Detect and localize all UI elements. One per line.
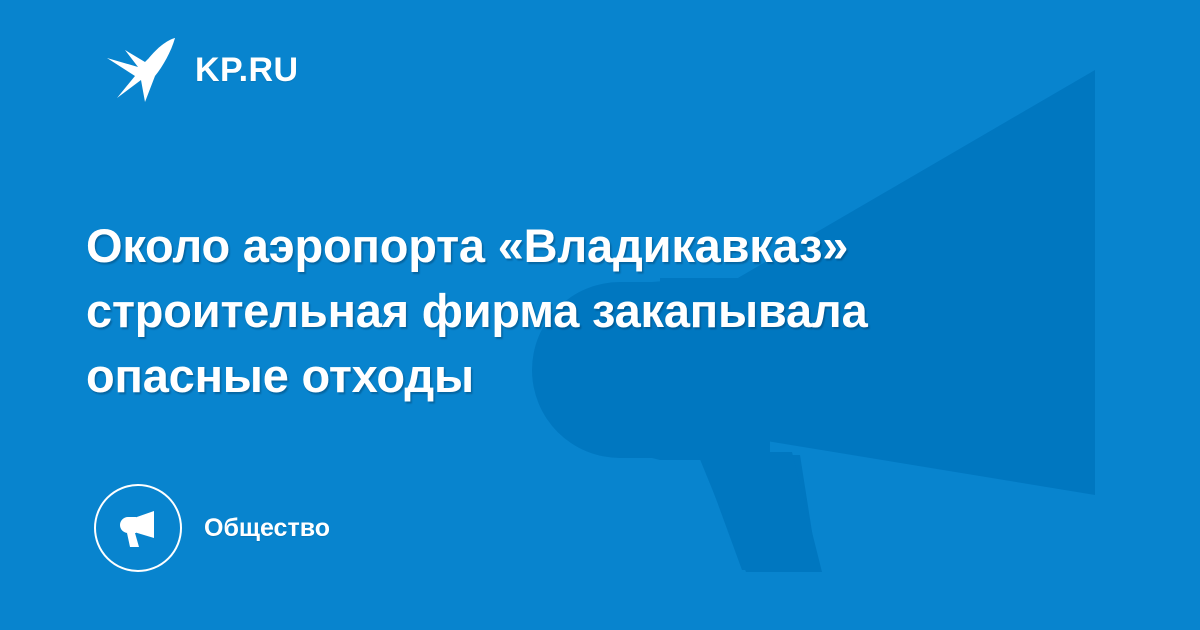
headline-line-3: опасные отходы <box>86 343 1076 408</box>
swallow-bird-icon <box>105 36 177 104</box>
share-card: KP.RU Около аэропорта «Владикавказ» стро… <box>0 0 1200 630</box>
category-label: Общество <box>204 516 330 541</box>
megaphone-icon <box>114 504 162 552</box>
headline-line-1: Около аэропорта «Владикавказ» <box>86 213 1076 278</box>
site-brand[interactable]: KP.RU <box>105 36 298 104</box>
category-badge[interactable]: Общество <box>94 482 330 574</box>
site-wordmark: KP.RU <box>195 53 298 87</box>
category-icon-circle <box>94 484 182 572</box>
headline: Около аэропорта «Владикавказ» строительн… <box>86 213 1076 408</box>
headline-line-2: строительная фирма закапывала <box>86 278 1076 343</box>
